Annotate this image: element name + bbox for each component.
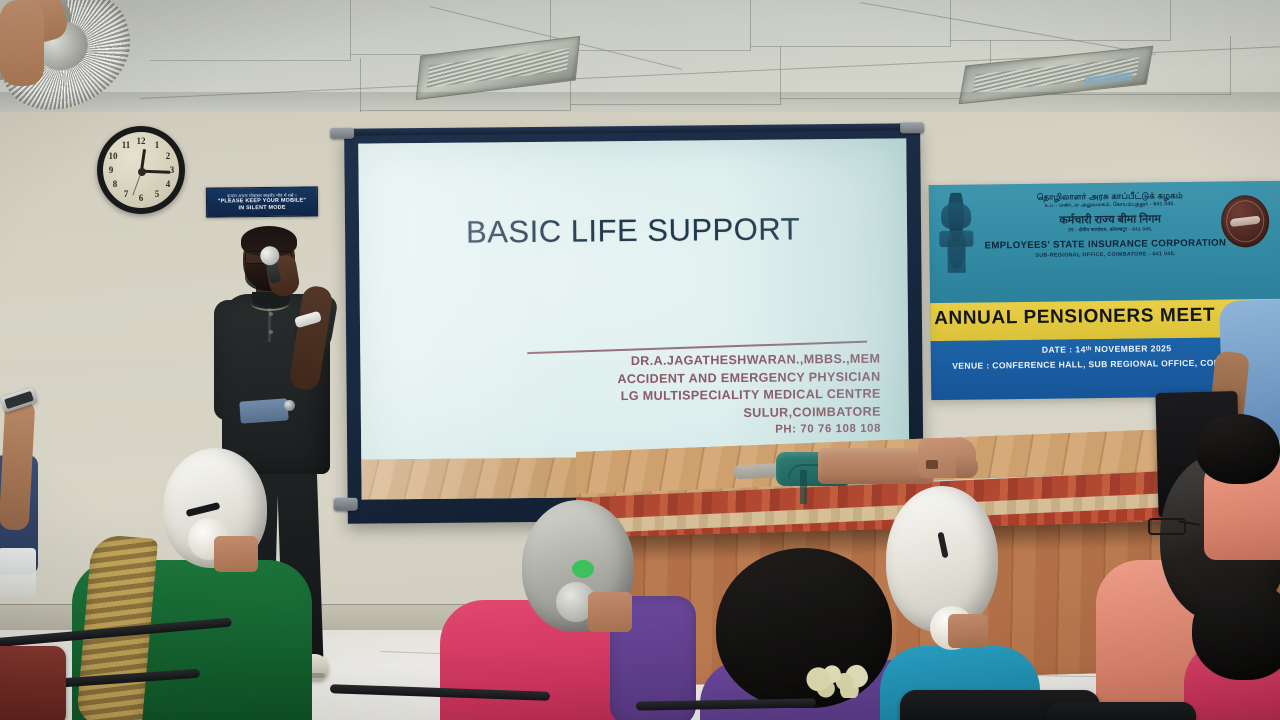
presenter-pocket-pouch xyxy=(239,398,288,423)
stacking-chair xyxy=(0,646,66,720)
water-jug xyxy=(0,548,36,596)
clock-numeral: 2 xyxy=(162,151,174,161)
clock-numeral: 5 xyxy=(151,189,163,199)
screen-mount-bracket xyxy=(900,122,924,133)
cpr-training-manikin xyxy=(806,434,978,486)
clock-numeral: 1 xyxy=(151,140,163,150)
clock-numeral: 7 xyxy=(120,189,132,199)
hair-flowers xyxy=(806,664,868,698)
clock-numeral: 8 xyxy=(109,179,121,189)
sign-english-line-2: IN SILENT MODE xyxy=(238,204,285,211)
audience-member-peach-saree xyxy=(0,0,44,86)
clock-numeral: 6 xyxy=(135,193,147,203)
clock-numeral: 4 xyxy=(162,179,174,189)
clock-numeral: 10 xyxy=(107,151,119,161)
slide-title: BASIC LIFE SUPPORT xyxy=(359,210,907,251)
presenter-neck-chain xyxy=(251,296,289,311)
screen-mount-bracket xyxy=(330,128,354,139)
ceiling xyxy=(0,0,1280,118)
stacking-chair xyxy=(1046,702,1196,720)
clock-numeral: 9 xyxy=(105,165,117,175)
clock-center-pin xyxy=(138,168,146,176)
clock-numeral: 12 xyxy=(135,136,147,146)
slide-credits-block: DR.A.JAGATHESHWARAN.,MBBS.,MEM ACCIDENT … xyxy=(420,351,881,443)
conference-hall-photo: 12 1 2 3 4 5 6 7 8 9 10 11 कृपया अपना मो… xyxy=(0,0,1280,720)
screen-mount-bracket xyxy=(334,498,358,511)
analog-wall-clock: 12 1 2 3 4 5 6 7 8 9 10 11 xyxy=(97,126,185,214)
silent-mode-sign: कृपया अपना मोबाइल साइलेंट मोड में रखें ।… xyxy=(206,186,318,217)
clock-numeral: 11 xyxy=(120,140,132,150)
